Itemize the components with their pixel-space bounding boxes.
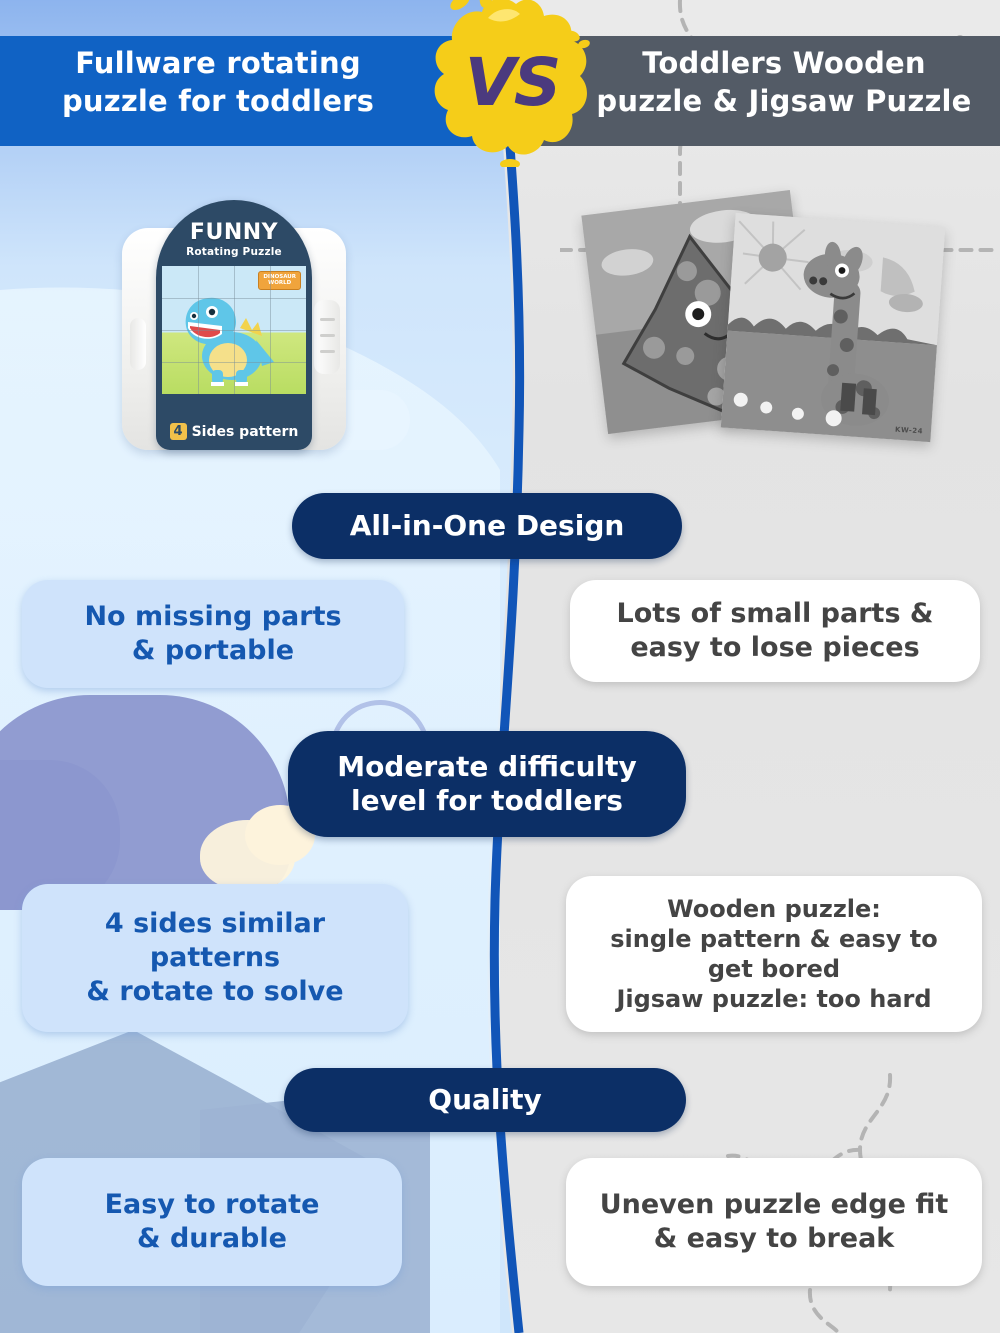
product-image-rotating-puzzle: FUNNY Rotating Puzzle <box>122 200 346 462</box>
header-title-left: Fullware rotating puzzle for toddlers <box>8 44 428 121</box>
pro-box-row-0: No missing parts & portable <box>22 580 404 688</box>
con-box-row-1: Wooden puzzle: single pattern & easy to … <box>566 876 982 1032</box>
toy-brand-name: FUNNY <box>156 220 312 245</box>
con-box-row-0: Lots of small parts & easy to lose piece… <box>570 580 980 682</box>
toy-side-grip-left <box>130 318 146 370</box>
sides-count: 4 <box>170 423 187 440</box>
divider-curve <box>455 0 575 1333</box>
section-pill-all-in-one-design: All-in-One Design <box>292 493 682 559</box>
con-box-row-2: Uneven puzzle edge fit & easy to break <box>566 1158 982 1286</box>
toy-brand-block: FUNNY Rotating Puzzle <box>156 220 312 258</box>
comparison-infographic: Fullware rotating puzzle for toddlers To… <box>0 0 1000 1333</box>
dinosaur-world-badge: DINOSAUR WORLD <box>258 271 301 290</box>
vs-label: VS <box>424 0 596 167</box>
toy-puzzle-grid: DINOSAUR WORLD <box>162 266 306 394</box>
wooden-puzzle-giraffe: KW-24 <box>721 213 945 442</box>
pro-box-row-2: Easy to rotate & durable <box>22 1158 402 1286</box>
vs-badge: VS <box>424 0 596 167</box>
product-image-wooden-puzzles: KW-24 <box>588 190 968 470</box>
header-title-right: Toddlers Wooden puzzle & Jigsaw Puzzle <box>574 44 994 121</box>
toy-footer-label: 4 Sides pattern <box>156 423 312 440</box>
toy-side-grip-right <box>314 300 340 374</box>
sides-pattern-label: Sides pattern <box>192 424 299 440</box>
toy-front-panel: FUNNY Rotating Puzzle <box>156 200 312 450</box>
section-pill-quality: Quality <box>284 1068 686 1132</box>
dinosaur-illustration <box>178 278 278 386</box>
toy-brand-tagline: Rotating Puzzle <box>156 246 312 258</box>
pro-box-row-1: 4 sides similar patterns & rotate to sol… <box>22 884 408 1032</box>
section-pill-moderate-difficulty: Moderate difficulty level for toddlers <box>288 731 686 837</box>
